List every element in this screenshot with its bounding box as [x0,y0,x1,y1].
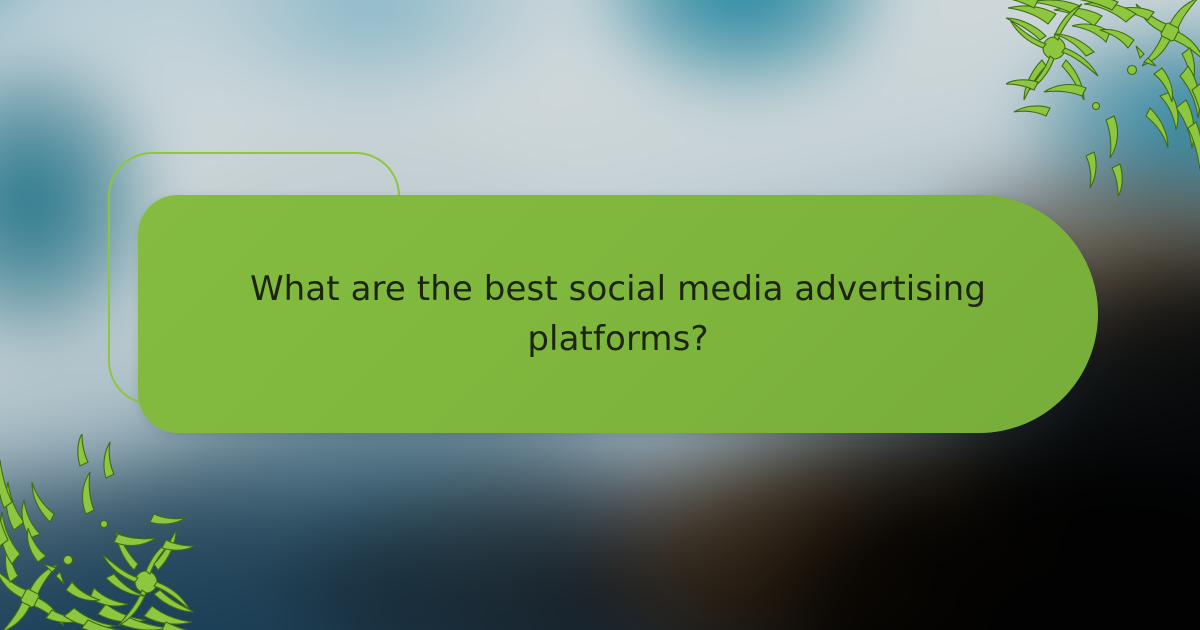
question-title: What are the best social media advertisi… [238,264,998,365]
poster-canvas: What are the best social media advertisi… [0,0,1200,630]
question-card: What are the best social media advertisi… [138,195,1098,433]
